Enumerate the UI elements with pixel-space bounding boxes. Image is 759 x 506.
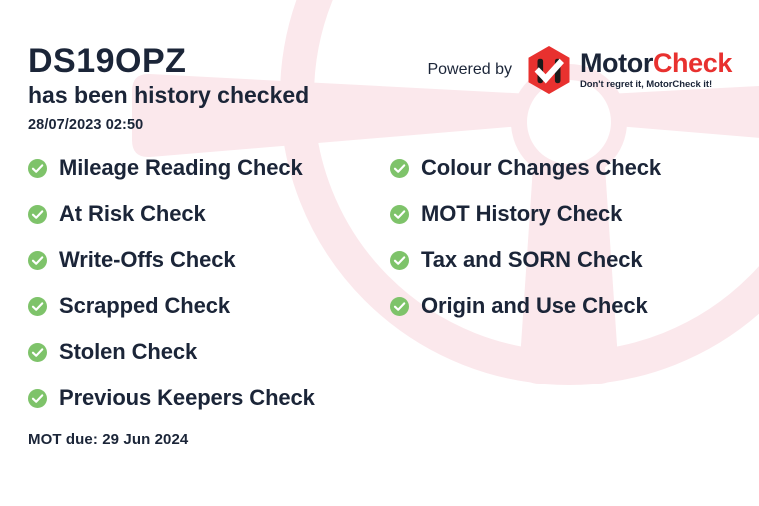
brand-tagline: Don't regret it, MotorCheck it! — [580, 80, 732, 90]
check-label: Previous Keepers Check — [59, 385, 315, 411]
check-item-mot-history: MOT History Check — [390, 191, 750, 237]
brand-name-check: Check — [653, 48, 732, 78]
green-circle-check-icon — [390, 297, 409, 316]
registration-plate-title: DS19OPZ — [28, 42, 428, 80]
green-circle-check-icon — [28, 389, 47, 408]
motorcheck-wordmark: MotorCheck Don't regret it, MotorCheck i… — [580, 50, 732, 90]
check-item-stolen: Stolen Check — [28, 329, 388, 375]
green-circle-check-icon — [28, 251, 47, 270]
green-circle-check-icon — [28, 297, 47, 316]
check-label: Colour Changes Check — [421, 155, 661, 181]
vehicle-history-check-banner: DS19OPZ has been history checked 28/07/2… — [0, 0, 759, 506]
mot-due-label: MOT due: 29 Jun 2024 — [28, 431, 188, 448]
motorcheck-logo[interactable]: MotorCheck Don't regret it, MotorCheck i… — [526, 45, 732, 95]
green-circle-check-icon — [390, 159, 409, 178]
check-label: At Risk Check — [59, 201, 206, 227]
check-label: Write-Offs Check — [59, 247, 235, 273]
check-list-right-column: Colour Changes Check MOT History Check T… — [390, 145, 750, 329]
check-item-tax-and-sorn: Tax and SORN Check — [390, 237, 750, 283]
check-list-left-column: Mileage Reading Check At Risk Check Writ… — [28, 145, 388, 421]
powered-by-block: Powered by MotorCheck Don't regret it, M… — [427, 45, 732, 95]
check-label: Tax and SORN Check — [421, 247, 643, 273]
brand-name-motor: Motor — [580, 48, 653, 78]
green-circle-check-icon — [28, 159, 47, 178]
green-circle-check-icon — [390, 251, 409, 270]
green-circle-check-icon — [28, 343, 47, 362]
check-label: Mileage Reading Check — [59, 155, 303, 181]
motorcheck-hexagon-m-check-icon — [526, 45, 572, 95]
check-timestamp: 28/07/2023 02:50 — [28, 117, 428, 133]
headline-subtitle: has been history checked — [28, 82, 428, 110]
powered-by-label: Powered by — [427, 61, 512, 79]
green-circle-check-icon — [28, 205, 47, 224]
header: DS19OPZ has been history checked 28/07/2… — [28, 42, 428, 133]
check-item-at-risk: At Risk Check — [28, 191, 388, 237]
check-label: Origin and Use Check — [421, 293, 648, 319]
check-item-origin-and-use: Origin and Use Check — [390, 283, 750, 329]
brand-name: MotorCheck — [580, 50, 732, 77]
check-item-mileage-reading: Mileage Reading Check — [28, 145, 388, 191]
check-label: Stolen Check — [59, 339, 197, 365]
check-label: MOT History Check — [421, 201, 622, 227]
check-label: Scrapped Check — [59, 293, 230, 319]
check-item-colour-changes: Colour Changes Check — [390, 145, 750, 191]
check-item-scrapped: Scrapped Check — [28, 283, 388, 329]
check-item-previous-keepers: Previous Keepers Check — [28, 375, 388, 421]
green-circle-check-icon — [390, 205, 409, 224]
check-item-write-offs: Write-Offs Check — [28, 237, 388, 283]
